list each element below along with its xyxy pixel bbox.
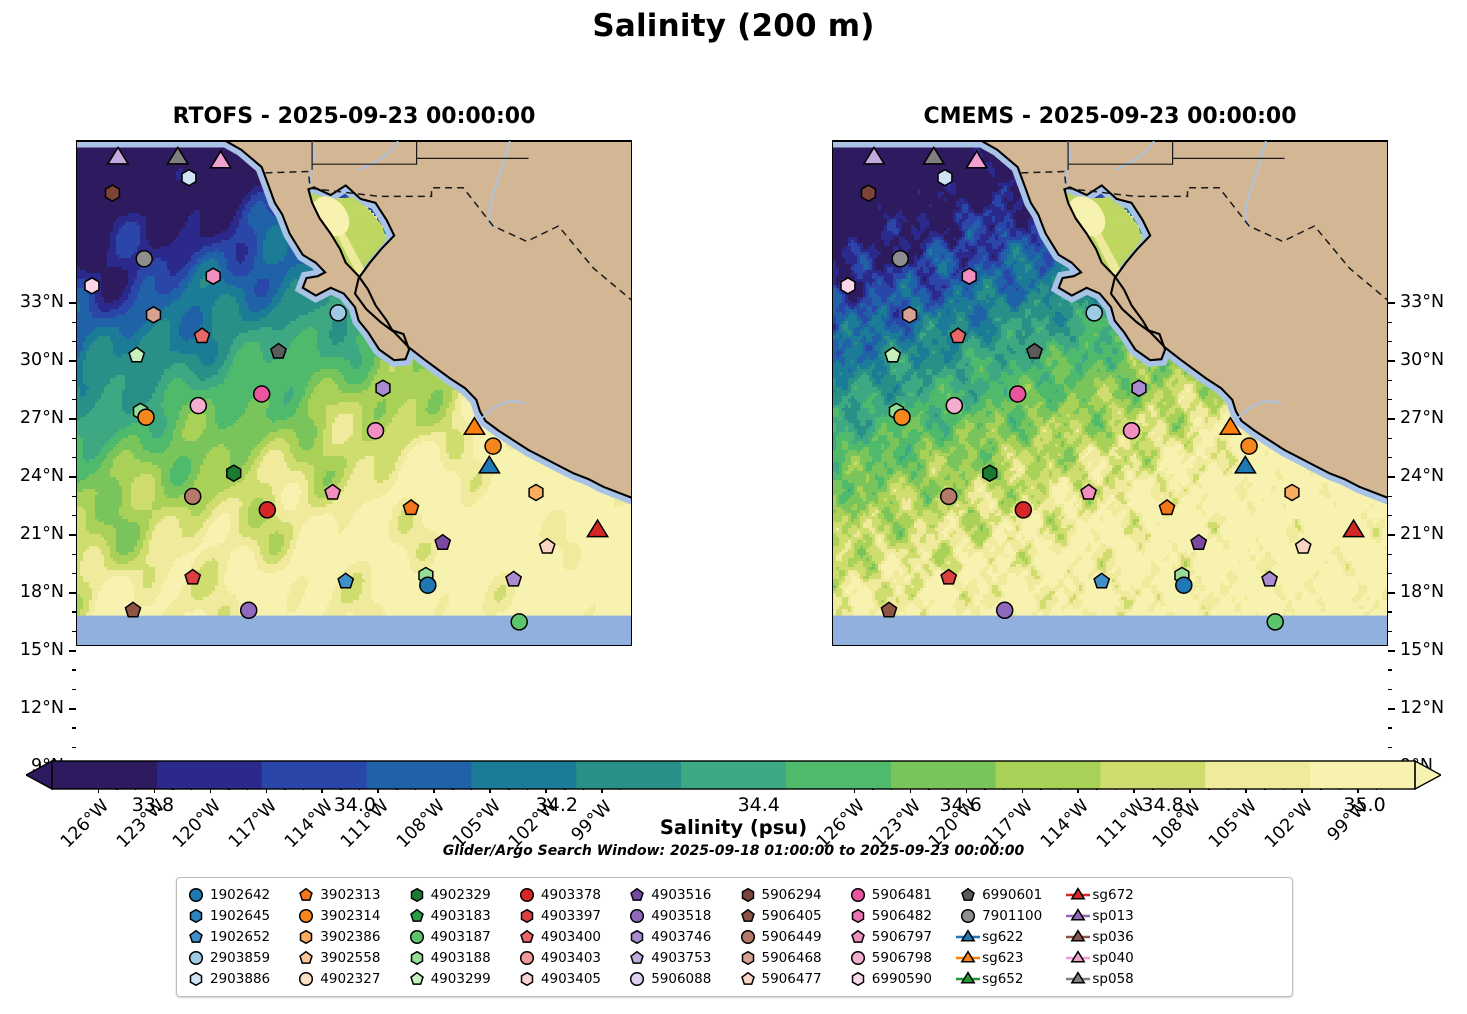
legend-marker-circle-icon bbox=[183, 885, 209, 905]
lat-minor-tick bbox=[1388, 573, 1392, 574]
legend-label: 4903753 bbox=[650, 950, 711, 966]
lat-tick-label: 15°N bbox=[20, 640, 64, 660]
lat-tick-label: 30°N bbox=[20, 350, 64, 370]
colorbar-band bbox=[681, 761, 786, 789]
map-marker-5906798[interactable] bbox=[946, 398, 962, 414]
legend-marker-pentagon-icon bbox=[293, 948, 319, 968]
lat-tick bbox=[69, 418, 76, 420]
colorbar-band bbox=[1310, 761, 1415, 789]
legend-marker-hexagon-icon bbox=[183, 969, 209, 989]
lat-tick-label: 12°N bbox=[20, 698, 64, 718]
legend-label: 4903403 bbox=[540, 950, 601, 966]
legend-label: 7901100 bbox=[981, 908, 1042, 924]
lat-tick bbox=[1388, 418, 1395, 420]
colorbar-band bbox=[262, 761, 367, 789]
lat-tick-label: 24°N bbox=[1400, 466, 1444, 486]
legend-label: 4902327 bbox=[319, 971, 380, 987]
lat-minor-tick bbox=[72, 631, 76, 632]
legend-marker-circle-icon bbox=[514, 885, 540, 905]
colorbar-tick-label: 34.0 bbox=[315, 794, 395, 816]
lat-tick bbox=[69, 302, 76, 304]
map-marker-4903187[interactable] bbox=[1267, 614, 1283, 630]
map-marker-5906449[interactable] bbox=[185, 488, 201, 504]
legend-item-sp013[interactable]: sp013 bbox=[1065, 906, 1175, 926]
legend-label: 3902313 bbox=[319, 887, 380, 903]
lat-tick-label: 15°N bbox=[1400, 640, 1444, 660]
legend-item-4903518[interactable]: 4903518 bbox=[624, 906, 734, 926]
colorbar-band bbox=[52, 761, 157, 789]
lat-tick bbox=[69, 708, 76, 710]
legend-marker-triangle-line-icon bbox=[955, 948, 981, 968]
legend-label: 3902386 bbox=[319, 929, 380, 945]
lat-minor-tick bbox=[72, 727, 76, 728]
lat-minor-tick bbox=[72, 457, 76, 458]
legend-marker-circle-icon bbox=[404, 927, 430, 947]
legend-item-1902652[interactable]: 1902652 bbox=[183, 927, 293, 947]
colorbar-band bbox=[1205, 761, 1310, 789]
legend-marker-triangle-line-icon bbox=[1065, 906, 1091, 926]
lat-minor-tick bbox=[72, 322, 76, 323]
legend-marker-triangle-line-icon bbox=[1065, 969, 1091, 989]
colorbar: 33.834.034.234.434.634.835.0 bbox=[26, 760, 1441, 794]
legend-marker-pentagon-icon bbox=[293, 885, 319, 905]
legend-label: 2903886 bbox=[209, 971, 270, 987]
colorbar-band bbox=[786, 761, 891, 789]
legend-item-sg672[interactable]: sg672 bbox=[1065, 885, 1175, 905]
page-title: Salinity (200 m) bbox=[0, 8, 1467, 44]
legend-item-sg623[interactable]: sg623 bbox=[955, 948, 1065, 968]
legend-item-4903378[interactable]: 4903378 bbox=[514, 885, 624, 905]
legend-label: sp013 bbox=[1091, 908, 1133, 924]
legend-label: 1902642 bbox=[209, 887, 270, 903]
lat-tick-label: 12°N bbox=[1400, 698, 1444, 718]
map-marker-5906797b[interactable] bbox=[1124, 423, 1140, 439]
lat-minor-tick bbox=[72, 689, 76, 690]
lat-minor-tick bbox=[72, 554, 76, 555]
legend-marker-circle-icon bbox=[845, 885, 871, 905]
legend-item-sp036[interactable]: sp036 bbox=[1065, 927, 1175, 947]
legend-item-4902327[interactable]: 4902327 bbox=[293, 969, 403, 989]
legend-marker-hexagon-icon bbox=[404, 885, 430, 905]
legend-label: 4903405 bbox=[540, 971, 601, 987]
map-marker-3902386[interactable] bbox=[529, 485, 543, 501]
legend-marker-hexagon-icon bbox=[404, 948, 430, 968]
legend-marker-circle-icon bbox=[845, 948, 871, 968]
legend-marker-circle-icon bbox=[514, 948, 540, 968]
lat-tick-label: 27°N bbox=[20, 408, 64, 428]
legend-item-3902314[interactable]: 3902314 bbox=[293, 906, 403, 926]
lat-minor-tick bbox=[72, 669, 76, 670]
legend-item-3902313[interactable]: 3902313 bbox=[293, 885, 403, 905]
legend-item-5906405[interactable]: 5906405 bbox=[735, 906, 845, 926]
lat-minor-tick bbox=[72, 515, 76, 516]
legend-label: 5906405 bbox=[761, 908, 822, 924]
colorbar-tick-label: 34.4 bbox=[719, 794, 799, 816]
legend-label: 5906294 bbox=[761, 887, 822, 903]
legend-item-sp058[interactable]: sp058 bbox=[1065, 969, 1175, 989]
legend-item-5906449[interactable]: 5906449 bbox=[735, 927, 845, 947]
legend-label: 1902652 bbox=[209, 929, 270, 945]
legend-marker-circle-icon bbox=[293, 906, 319, 926]
map-marker-4903746[interactable] bbox=[1132, 380, 1146, 396]
legend-item-5906798[interactable]: 5906798 bbox=[845, 948, 955, 968]
colorbar-band bbox=[471, 761, 576, 789]
legend: 1902642190264519026522903859290388639023… bbox=[176, 877, 1293, 997]
legend-label: 6990590 bbox=[871, 971, 932, 987]
legend-label: 4903187 bbox=[430, 929, 491, 945]
legend-marker-circle-icon bbox=[624, 906, 650, 926]
lat-minor-tick bbox=[72, 341, 76, 342]
legend-item-4902329[interactable]: 4902329 bbox=[404, 885, 514, 905]
legend-item-4903405[interactable]: 4903405 bbox=[514, 969, 624, 989]
legend-label: sg622 bbox=[981, 929, 1023, 945]
lat-tick-label: 24°N bbox=[20, 466, 64, 486]
legend-item-4903400[interactable]: 4903400 bbox=[514, 927, 624, 947]
map-marker-2903859[interactable] bbox=[1086, 305, 1102, 321]
legend-item-4903183[interactable]: 4903183 bbox=[404, 906, 514, 926]
lat-tick-label: 21°N bbox=[20, 524, 64, 544]
colorbar-band bbox=[996, 761, 1101, 789]
legend-label: 5906468 bbox=[761, 950, 822, 966]
lat-minor-tick bbox=[1388, 554, 1392, 555]
legend-marker-triangle-line-icon bbox=[1065, 927, 1091, 947]
legend-marker-circle-icon bbox=[293, 969, 319, 989]
legend-item-5906477[interactable]: 5906477 bbox=[735, 969, 845, 989]
legend-label: 4903183 bbox=[430, 908, 491, 924]
map-canvas-rtofs[interactable] bbox=[76, 140, 632, 646]
map-marker-3902314b[interactable] bbox=[485, 438, 501, 454]
lat-tick bbox=[69, 476, 76, 478]
legend-item-5906088[interactable]: 5906088 bbox=[624, 969, 734, 989]
legend-marker-circle-icon bbox=[624, 969, 650, 989]
legend-item-4903516[interactable]: 4903516 bbox=[624, 885, 734, 905]
legend-label: 4903746 bbox=[650, 929, 711, 945]
map-marker-5906481[interactable] bbox=[254, 386, 270, 402]
lat-minor-tick bbox=[1388, 727, 1392, 728]
legend-label: 4903516 bbox=[650, 887, 711, 903]
legend-item-4903397[interactable]: 4903397 bbox=[514, 906, 624, 926]
colorbar-band bbox=[367, 761, 472, 789]
map-marker-1902642[interactable] bbox=[1176, 577, 1192, 593]
legend-label: sp058 bbox=[1091, 971, 1133, 987]
map-marker-5906797b[interactable] bbox=[368, 423, 384, 439]
legend-label: 4903397 bbox=[540, 908, 601, 924]
map-marker-3902386[interactable] bbox=[1285, 485, 1299, 501]
colorbar-band bbox=[157, 761, 262, 789]
legend-marker-triangle-line-icon bbox=[955, 969, 981, 989]
legend-marker-pentagon-icon bbox=[624, 948, 650, 968]
legend-label: 4903188 bbox=[430, 950, 491, 966]
colorbar-tick-label: 34.6 bbox=[921, 794, 1001, 816]
lat-minor-tick bbox=[1388, 689, 1392, 690]
lat-minor-tick bbox=[1388, 515, 1392, 516]
legend-marker-triangle-line-icon bbox=[1065, 885, 1091, 905]
colorbar-band bbox=[576, 761, 681, 789]
lat-tick bbox=[1388, 476, 1395, 478]
map-marker-7901100[interactable] bbox=[892, 251, 908, 267]
legend-marker-pentagon-icon bbox=[955, 885, 981, 905]
legend-label: 5906797 bbox=[871, 929, 932, 945]
legend-label: 5906798 bbox=[871, 950, 932, 966]
colorbar-tick-label: 35.0 bbox=[1325, 794, 1405, 816]
lat-tick bbox=[1388, 534, 1395, 536]
legend-marker-hexagon-icon bbox=[514, 969, 540, 989]
legend-marker-pentagon-icon bbox=[404, 906, 430, 926]
map-marker-5906468[interactable] bbox=[903, 307, 917, 323]
map-marker-4902329[interactable] bbox=[983, 465, 997, 481]
lat-tick-label: 21°N bbox=[1400, 524, 1444, 544]
legend-label: 5906449 bbox=[761, 929, 822, 945]
map-marker-4903378[interactable] bbox=[1015, 502, 1031, 518]
lat-tick bbox=[1388, 360, 1395, 362]
map-marker-5906797[interactable] bbox=[206, 268, 220, 284]
legend-marker-pentagon-icon bbox=[735, 969, 761, 989]
legend-item-2903859[interactable]: 2903859 bbox=[183, 948, 293, 968]
lat-tick bbox=[1388, 708, 1395, 710]
lat-minor-tick bbox=[1388, 611, 1392, 612]
legend-marker-pentagon-icon bbox=[845, 927, 871, 947]
legend-item-5906468[interactable]: 5906468 bbox=[735, 948, 845, 968]
map-marker-4903187[interactable] bbox=[511, 614, 527, 630]
lat-tick-label: 18°N bbox=[20, 582, 64, 602]
lat-minor-tick bbox=[72, 399, 76, 400]
legend-marker-hexagon-icon bbox=[183, 906, 209, 926]
legend-item-6990601[interactable]: 6990601 bbox=[955, 885, 1065, 905]
lat-tick bbox=[69, 592, 76, 594]
lat-tick-label: 30°N bbox=[1400, 350, 1444, 370]
lat-tick bbox=[1388, 592, 1395, 594]
search-window-caption: Glider/Argo Search Window: 2025-09-18 01… bbox=[0, 843, 1467, 859]
legend-marker-hexagon-icon bbox=[735, 885, 761, 905]
legend-grid: 1902642190264519026522903859290388639023… bbox=[183, 885, 1286, 989]
legend-label: 5906088 bbox=[650, 971, 711, 987]
legend-item-7901100[interactable]: 7901100 bbox=[955, 906, 1065, 926]
legend-marker-hexagon-icon bbox=[735, 948, 761, 968]
legend-marker-hexagon-icon bbox=[514, 906, 540, 926]
map-marker-5906294[interactable] bbox=[862, 185, 876, 201]
lat-tick bbox=[1388, 650, 1395, 652]
map-marker-1902642[interactable] bbox=[420, 577, 436, 593]
legend-item-4903746[interactable]: 4903746 bbox=[624, 927, 734, 947]
legend-label: sg652 bbox=[981, 971, 1023, 987]
panel-title-cmems: CMEMS - 2025-09-23 00:00:00 bbox=[832, 104, 1388, 129]
map-marker-4903518[interactable] bbox=[241, 602, 257, 618]
lat-minor-tick bbox=[1388, 341, 1392, 342]
legend-item-4903403[interactable]: 4903403 bbox=[514, 948, 624, 968]
colorbar-label: Salinity (psu) bbox=[0, 816, 1467, 839]
colorbar-tick-label: 33.8 bbox=[113, 794, 193, 816]
map-marker-5906797[interactable] bbox=[962, 268, 976, 284]
map-marker-4903518[interactable] bbox=[997, 602, 1013, 618]
legend-marker-triangle-line-icon bbox=[955, 927, 981, 947]
legend-label: 5906481 bbox=[871, 887, 932, 903]
legend-label: 4902329 bbox=[430, 887, 491, 903]
legend-marker-hexagon-icon bbox=[845, 906, 871, 926]
legend-item-5906481[interactable]: 5906481 bbox=[845, 885, 955, 905]
map-marker-2903886[interactable] bbox=[182, 170, 196, 186]
colorbar-max-arrow bbox=[1415, 761, 1441, 789]
lat-minor-tick bbox=[72, 573, 76, 574]
legend-label: 4903378 bbox=[540, 887, 601, 903]
map-marker-7901100[interactable] bbox=[136, 251, 152, 267]
legend-marker-hexagon-icon bbox=[624, 927, 650, 947]
lat-minor-tick bbox=[1388, 399, 1392, 400]
legend-item-1902645[interactable]: 1902645 bbox=[183, 906, 293, 926]
legend-item-2903886[interactable]: 2903886 bbox=[183, 969, 293, 989]
legend-label: sg672 bbox=[1091, 887, 1133, 903]
legend-label: 3902558 bbox=[319, 950, 380, 966]
map-marker-5906468[interactable] bbox=[147, 307, 161, 323]
lat-minor-tick bbox=[72, 496, 76, 497]
legend-label: sg623 bbox=[981, 950, 1023, 966]
legend-marker-pentagon-icon bbox=[183, 927, 209, 947]
legend-item-5906797[interactable]: 5906797 bbox=[845, 927, 955, 947]
legend-marker-pentagon-icon bbox=[735, 906, 761, 926]
map-marker-5906294[interactable] bbox=[106, 185, 120, 201]
legend-item-sg652[interactable]: sg652 bbox=[955, 969, 1065, 989]
map-panel-rtofs: RTOFS - 2025-09-23 00:00:00 33°N30°N27°N… bbox=[76, 140, 632, 646]
legend-marker-circle-icon bbox=[183, 948, 209, 968]
map-marker-3902314b[interactable] bbox=[1241, 438, 1257, 454]
legend-label: sp040 bbox=[1091, 950, 1133, 966]
legend-item-1902642[interactable]: 1902642 bbox=[183, 885, 293, 905]
legend-label: sp036 bbox=[1091, 929, 1133, 945]
legend-item-4903299[interactable]: 4903299 bbox=[404, 969, 514, 989]
map-marker-4902329[interactable] bbox=[227, 465, 241, 481]
map-marker-pt[interactable] bbox=[841, 278, 855, 294]
legend-item-3902558[interactable]: 3902558 bbox=[293, 948, 403, 968]
legend-item-3902386[interactable]: 3902386 bbox=[293, 927, 403, 947]
lat-minor-tick bbox=[1388, 669, 1392, 670]
legend-marker-circle-icon bbox=[955, 906, 981, 926]
legend-marker-hexagon-icon bbox=[293, 927, 319, 947]
lat-tick bbox=[1388, 302, 1395, 304]
lat-minor-tick bbox=[72, 380, 76, 381]
legend-label: 5906477 bbox=[761, 971, 822, 987]
map-marker-5906798[interactable] bbox=[190, 398, 206, 414]
legend-item-6990590[interactable]: 6990590 bbox=[845, 969, 955, 989]
colorbar-tick-label: 34.2 bbox=[517, 794, 597, 816]
colorbar-min-arrow bbox=[26, 761, 52, 789]
lat-tick-label: 18°N bbox=[1400, 582, 1444, 602]
panel-title-rtofs: RTOFS - 2025-09-23 00:00:00 bbox=[76, 104, 632, 129]
map-marker-5906449[interactable] bbox=[941, 488, 957, 504]
legend-item-4903187[interactable]: 4903187 bbox=[404, 927, 514, 947]
map-marker-5906481[interactable] bbox=[1010, 386, 1026, 402]
lat-tick-label: 33°N bbox=[20, 292, 64, 312]
map-marker-4903746[interactable] bbox=[376, 380, 390, 396]
legend-label: 4903299 bbox=[430, 971, 491, 987]
lat-minor-tick bbox=[1388, 322, 1392, 323]
lat-minor-tick bbox=[1388, 380, 1392, 381]
legend-label: 6990601 bbox=[981, 887, 1042, 903]
lat-minor-tick bbox=[1388, 747, 1392, 748]
legend-marker-hexagon-icon bbox=[845, 969, 871, 989]
lat-tick bbox=[69, 360, 76, 362]
legend-item-sg622[interactable]: sg622 bbox=[955, 927, 1065, 947]
lat-minor-tick bbox=[72, 438, 76, 439]
lat-minor-tick bbox=[72, 747, 76, 748]
legend-label: 3902314 bbox=[319, 908, 380, 924]
lat-minor-tick bbox=[1388, 438, 1392, 439]
map-marker-3902314[interactable] bbox=[894, 409, 910, 425]
legend-marker-circle-icon bbox=[735, 927, 761, 947]
legend-label: 4903518 bbox=[650, 908, 711, 924]
map-panel-cmems: CMEMS - 2025-09-23 00:00:00 33°N30°N27°N… bbox=[832, 140, 1388, 646]
map-marker-2903859[interactable] bbox=[330, 305, 346, 321]
legend-marker-pentagon-icon bbox=[624, 885, 650, 905]
map-marker-2903886[interactable] bbox=[938, 170, 952, 186]
legend-label: 4903400 bbox=[540, 929, 601, 945]
lat-tick bbox=[69, 650, 76, 652]
legend-item-5906294[interactable]: 5906294 bbox=[735, 885, 845, 905]
map-marker-pt[interactable] bbox=[85, 278, 99, 294]
legend-marker-triangle-line-icon bbox=[1065, 948, 1091, 968]
map-marker-4903378[interactable] bbox=[259, 502, 275, 518]
legend-label: 2903859 bbox=[209, 950, 270, 966]
map-canvas-cmems[interactable] bbox=[832, 140, 1388, 646]
legend-item-5906482[interactable]: 5906482 bbox=[845, 906, 955, 926]
lat-tick-label: 33°N bbox=[1400, 292, 1444, 312]
legend-item-4903753[interactable]: 4903753 bbox=[624, 948, 734, 968]
lat-minor-tick bbox=[1388, 496, 1392, 497]
lat-minor-tick bbox=[1388, 457, 1392, 458]
legend-marker-pentagon-icon bbox=[514, 927, 540, 947]
lat-tick-label: 27°N bbox=[1400, 408, 1444, 428]
legend-marker-pentagon-icon bbox=[404, 969, 430, 989]
colorbar-band bbox=[891, 761, 996, 789]
lat-tick bbox=[69, 534, 76, 536]
lat-minor-tick bbox=[72, 611, 76, 612]
colorbar-tick-label: 34.8 bbox=[1123, 794, 1203, 816]
lat-minor-tick bbox=[1388, 631, 1392, 632]
legend-item-sp040[interactable]: sp040 bbox=[1065, 948, 1175, 968]
legend-label: 1902645 bbox=[209, 908, 270, 924]
legend-item-4903188[interactable]: 4903188 bbox=[404, 948, 514, 968]
colorbar-band bbox=[1100, 761, 1205, 789]
map-marker-3902314[interactable] bbox=[138, 409, 154, 425]
legend-label: 5906482 bbox=[871, 908, 932, 924]
